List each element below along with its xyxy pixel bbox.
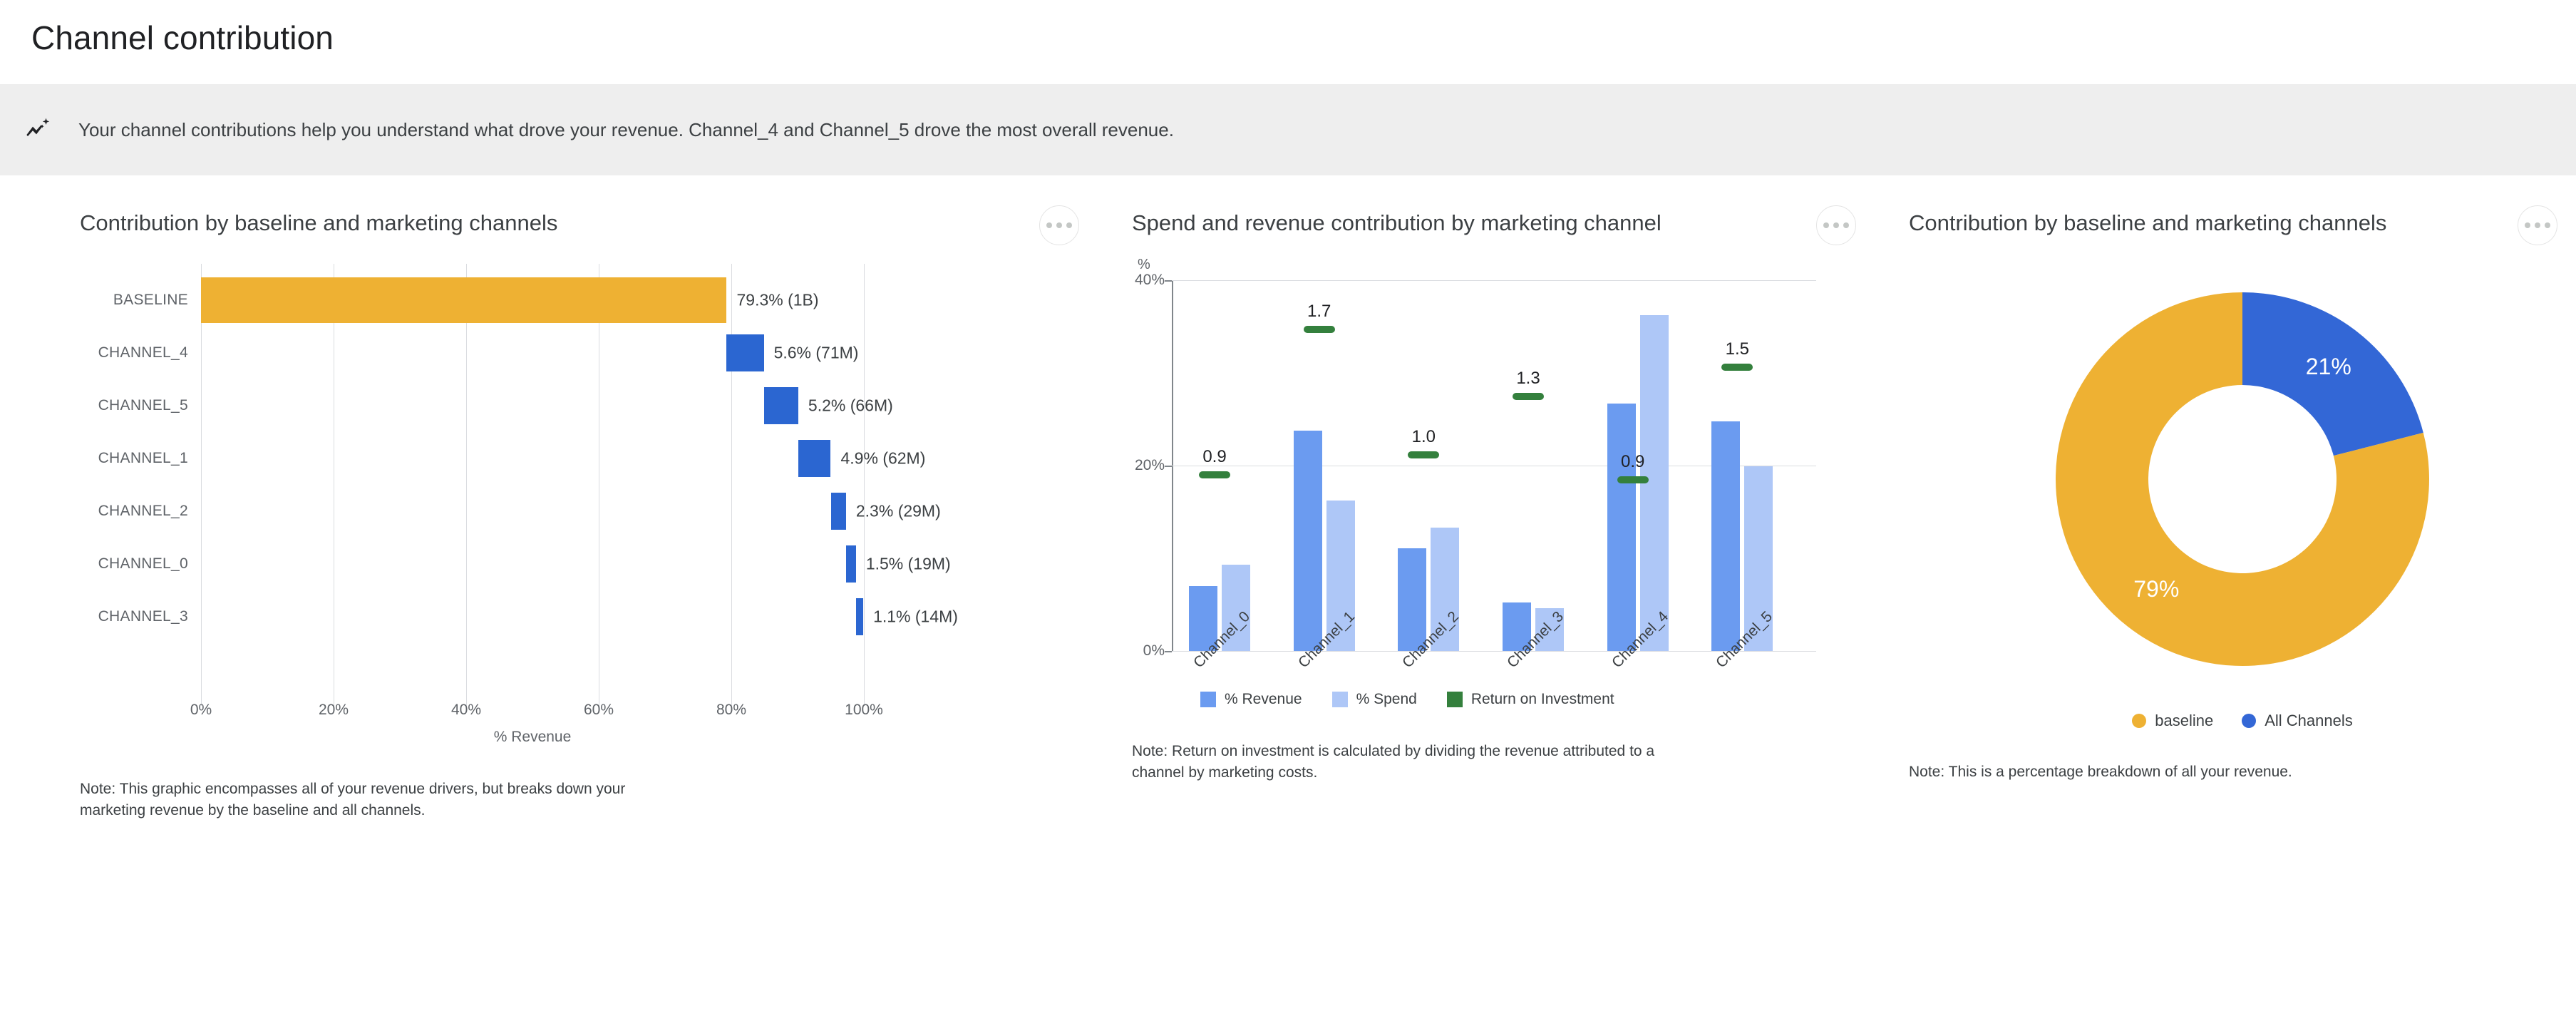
row-plot: 1.1% (14M) [201,590,864,643]
legend-swatch [1332,692,1348,707]
x-axis-tick: 0% [190,702,212,719]
roi-value-label: 1.3 [1516,369,1540,389]
panel-header: Contribution by baseline and marketing c… [80,210,1098,245]
dot-icon [2535,222,2540,228]
category-label: CHANNEL_1 [80,450,201,467]
category-label: CHANNEL_3 [80,608,201,625]
waterfall-row[interactable]: CHANNEL_45.6% (71M) [80,327,864,379]
roi-marker[interactable] [1721,364,1753,371]
y-axis-tickmark [1165,651,1172,652]
chart-legend: % Revenue% SpendReturn on Investment [1132,691,1875,708]
waterfall-bar[interactable] [764,387,798,424]
chart-legend: baselineAll Channels [1909,712,2576,730]
y-axis-tick: 20% [1135,457,1165,474]
y-axis-tick: 0% [1143,642,1165,660]
insight-text: Your channel contributions help you unde… [78,119,1174,141]
panel-title: Spend and revenue contribution by market… [1132,210,1661,236]
roi-marker[interactable] [1513,393,1544,400]
legend-item[interactable]: % Revenue [1200,691,1302,708]
category-label: CHANNEL_5 [80,397,201,414]
x-axis-tick: 40% [451,702,481,719]
bar-value-label: 4.9% (62M) [841,449,926,468]
more-options-button[interactable] [2518,205,2557,245]
legend-item[interactable]: % Spend [1332,691,1417,708]
x-axis-tick: 80% [716,702,746,719]
axis-unit-label: % [1138,257,1875,273]
row-plot: 79.3% (1B) [201,274,864,327]
legend-label: baseline [2155,712,2213,730]
roi-marker[interactable] [1617,476,1649,483]
x-axis-tick: 20% [319,702,349,719]
legend-item[interactable]: baseline [2132,712,2213,730]
page-title: Channel contribution [0,0,2576,57]
bar-value-label: 5.2% (66M) [808,396,893,416]
roi-marker[interactable] [1199,471,1230,478]
legend-label: All Channels [2265,712,2353,730]
bar-group: 1.5Channel_5 [1704,280,1809,651]
waterfall-bar[interactable] [846,545,856,583]
panel-title: Contribution by baseline and marketing c… [1909,210,2386,236]
waterfall-bar[interactable] [201,277,726,323]
waterfall-row[interactable]: CHANNEL_01.5% (19M) [80,538,864,590]
gridline [864,264,865,706]
legend-label: % Revenue [1225,691,1302,708]
waterfall-bar[interactable] [831,493,846,530]
panel-donut-contribution: Contribution by baseline and marketing c… [1875,210,2576,821]
donut-slice-label: 79% [2133,576,2179,602]
bar-value-label: 2.3% (29M) [856,502,941,521]
revenue-bar[interactable] [1711,421,1740,651]
panel-header: Spend and revenue contribution by market… [1132,210,1875,245]
category-label: CHANNEL_2 [80,503,201,520]
roi-value-label: 1.7 [1307,302,1331,322]
bar-value-label: 79.3% (1B) [736,291,818,310]
waterfall-bar[interactable] [856,598,863,635]
bar-value-label: 5.6% (71M) [774,344,859,363]
panel-note: Note: Return on investment is calculated… [1132,741,1695,784]
dot-icon [1066,222,1072,228]
panel-contribution-waterfall: Contribution by baseline and marketing c… [0,210,1098,821]
panel-note: Note: This is a percentage breakdown of … [1909,761,2576,783]
bar-group: 1.7Channel_1 [1287,280,1391,651]
donut-slice-label: 21% [2306,354,2351,380]
legend-item[interactable]: All Channels [2242,712,2353,730]
roi-value-label: 0.9 [1202,447,1226,467]
category-label: BASELINE [80,292,201,309]
panel-title: Contribution by baseline and marketing c… [80,210,557,236]
legend-item[interactable]: Return on Investment [1447,691,1614,708]
donut-chart: 21% 79% [2021,258,2463,700]
insight-banner: Your channel contributions help you unde… [0,84,2576,175]
grouped-bar-plot-area: 0%20%40%0.9Channel_01.7Channel_11.0Chann… [1172,280,1816,651]
donut-svg [2021,258,2463,700]
waterfall-row[interactable]: CHANNEL_31.1% (14M) [80,590,864,643]
row-plot: 4.9% (62M) [201,432,864,485]
legend-label: Return on Investment [1471,691,1614,708]
row-plot: 5.6% (71M) [201,327,864,379]
bar-group: 0.9Channel_0 [1182,280,1287,651]
waterfall-row[interactable]: CHANNEL_22.3% (29M) [80,485,864,538]
legend-swatch [2132,714,2146,728]
panel-note: Note: This graphic encompasses all of yo… [80,779,650,821]
legend-swatch [1200,692,1216,707]
panel-header: Contribution by baseline and marketing c… [1909,210,2576,245]
row-plot: 1.5% (19M) [201,538,864,590]
roi-value-label: 0.9 [1621,452,1644,472]
more-options-button[interactable] [1039,205,1079,245]
x-axis-label: % Revenue [494,729,572,746]
waterfall-x-axis: 0%20%40%60%80%100%% Revenue [201,692,864,734]
waterfall-row[interactable]: BASELINE79.3% (1B) [80,274,864,327]
dot-icon [1056,222,1062,228]
dot-icon [1046,222,1052,228]
spend-bar[interactable] [1640,315,1669,651]
x-axis-tick: 100% [845,702,883,719]
y-axis-tick: 40% [1135,272,1165,289]
bar-group: 0.9Channel_4 [1600,280,1705,651]
dot-icon [2525,222,2530,228]
bar-value-label: 1.5% (19M) [866,555,951,574]
revenue-bar[interactable] [1607,404,1636,651]
grouped-bar-chart: 0%20%40%0.9Channel_01.7Channel_11.0Chann… [1132,280,1816,679]
y-axis-tickmark [1165,466,1172,467]
waterfall-row[interactable]: CHANNEL_55.2% (66M) [80,379,864,432]
category-label: CHANNEL_4 [80,344,201,361]
dot-icon [2545,222,2550,228]
bar-group: 1.0Channel_2 [1391,280,1495,651]
revenue-bar[interactable] [1294,431,1322,651]
roi-value-label: 1.5 [1726,339,1749,359]
legend-label: % Spend [1356,691,1417,708]
waterfall-bar[interactable] [798,440,831,477]
category-label: CHANNEL_0 [80,555,201,573]
bar-value-label: 1.1% (14M) [873,607,958,627]
dot-icon [1823,222,1829,228]
row-plot: 5.2% (66M) [201,379,864,432]
y-axis-tickmark [1165,280,1172,282]
dot-icon [1843,222,1849,228]
legend-swatch [2242,714,2256,728]
roi-value-label: 1.0 [1412,427,1436,447]
dot-icon [1833,222,1839,228]
more-options-button[interactable] [1816,205,1856,245]
legend-swatch [1447,692,1463,707]
waterfall-bar[interactable] [726,334,763,371]
waterfall-row[interactable]: CHANNEL_14.9% (62M) [80,432,864,485]
roi-marker[interactable] [1408,451,1439,458]
bar-group: 1.3Channel_3 [1495,280,1600,651]
trending-sparkle-icon [19,110,58,150]
x-axis-tick: 60% [584,702,614,719]
row-plot: 2.3% (29M) [201,485,864,538]
roi-marker[interactable] [1304,326,1335,333]
waterfall-chart: BASELINE79.3% (1B)CHANNEL_45.6% (71M)CHA… [80,264,864,706]
panel-spend-revenue: Spend and revenue contribution by market… [1098,210,1875,821]
dashboard-row: Contribution by baseline and marketing c… [0,175,2576,821]
